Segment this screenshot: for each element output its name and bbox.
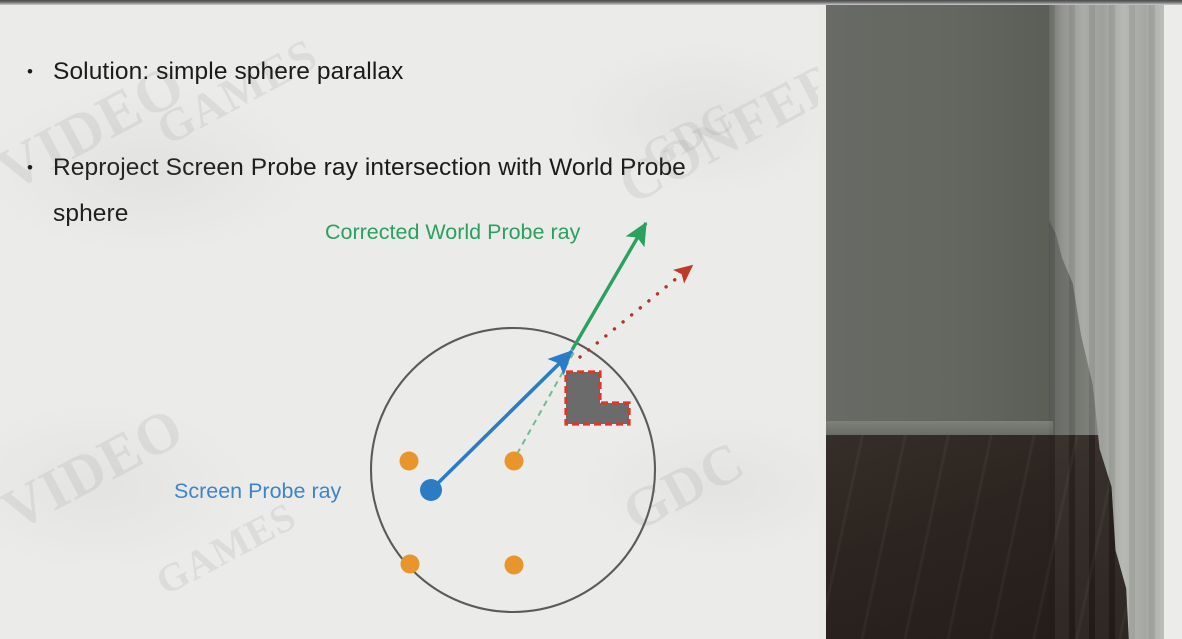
screen-probe-ray-label: Screen Probe ray	[174, 479, 341, 504]
bullet-marker-icon: •	[27, 49, 53, 95]
bullet-marker-icon: •	[27, 145, 53, 191]
bullet-item-1: • Solution: simple sphere parallax	[27, 49, 403, 95]
uncorrected-world-probe-ray	[580, 269, 688, 357]
watermark-text: GAMES	[148, 492, 304, 605]
slide-panel: VIDEO GAMES CONFERENCE GDC VIDEO GDC GAM…	[0, 5, 818, 639]
world-probe-point	[505, 556, 524, 575]
video-left-edge	[818, 5, 826, 639]
screen-probe-origin-point	[420, 479, 442, 501]
corrected-world-probe-ray-label: Corrected World Probe ray	[325, 220, 580, 245]
corrected-world-probe-ray	[572, 223, 646, 350]
presentation-screen: VIDEO GAMES CONFERENCE GDC VIDEO GDC GAM…	[0, 0, 1182, 639]
world-probe-to-intersection-line	[517, 352, 574, 454]
screen-probe-ray	[433, 351, 572, 488]
occluder-block	[566, 372, 629, 424]
presenter-camera-feed	[818, 5, 1182, 639]
video-right-edge	[1164, 5, 1182, 639]
video-baseboard	[818, 421, 1053, 435]
watermark-text: VIDEO	[0, 393, 194, 544]
world-probe-point	[505, 452, 524, 471]
world-probe-point	[401, 555, 420, 574]
bullet-text: Solution: simple sphere parallax	[53, 49, 403, 95]
world-probe-sphere	[371, 328, 655, 612]
watermark-text: GDC	[612, 429, 755, 545]
video-wall	[818, 5, 1062, 437]
sphere-parallax-diagram	[0, 5, 818, 639]
world-probe-point	[400, 452, 419, 471]
